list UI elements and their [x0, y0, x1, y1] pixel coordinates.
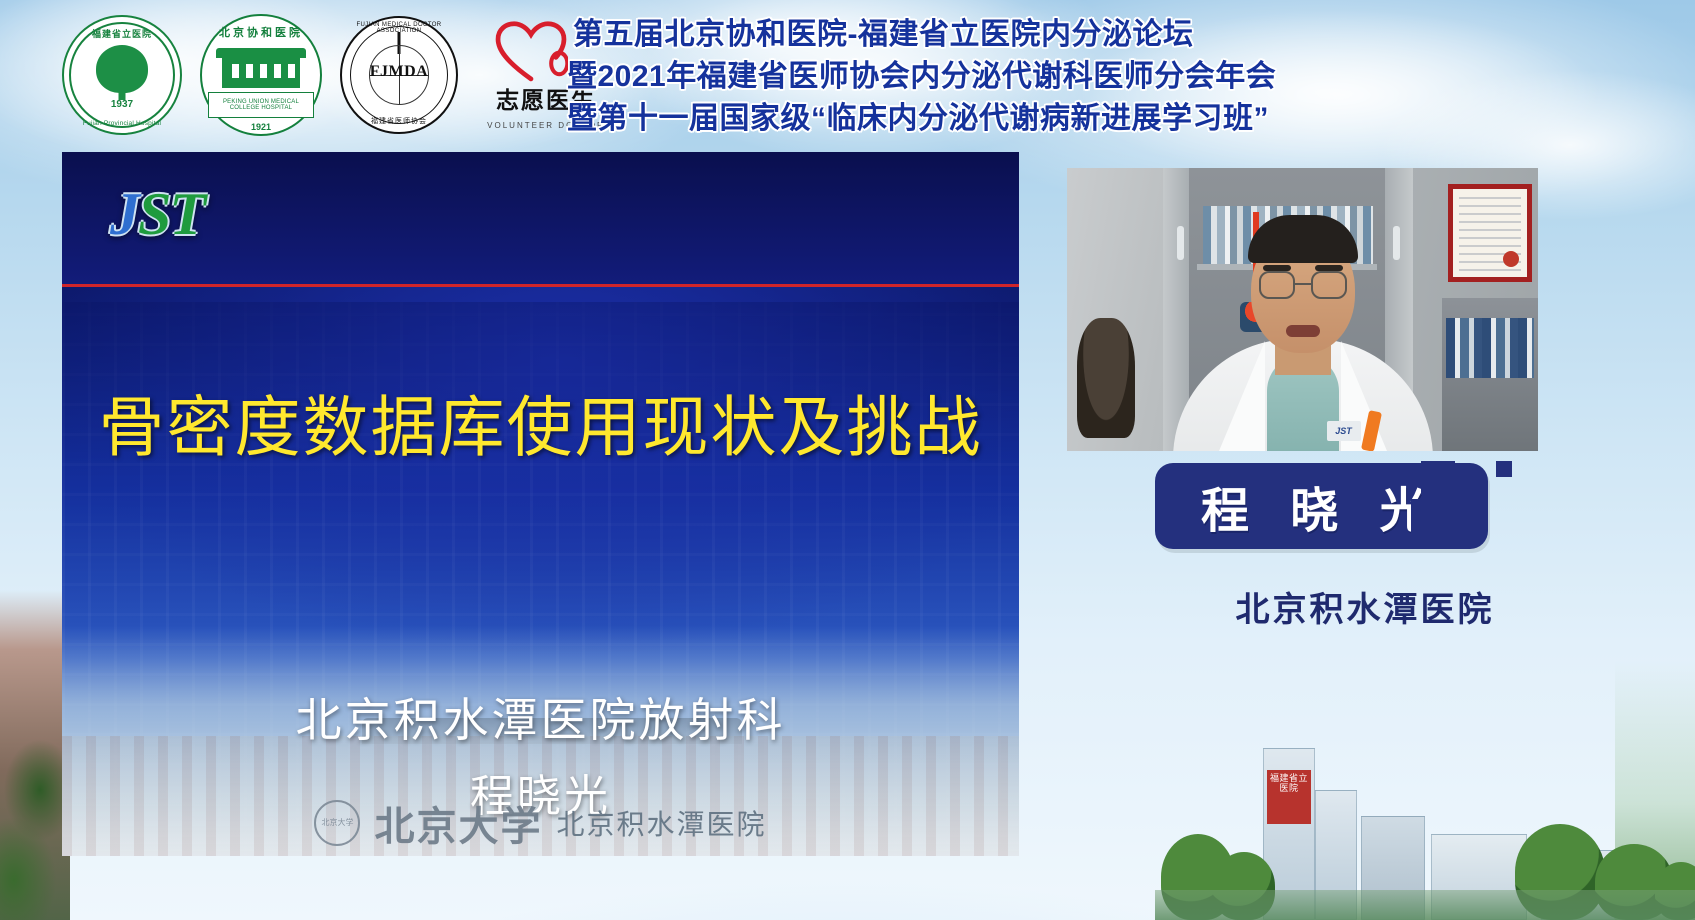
speaker-panel: JST 程 晓 光 北京积水潭医院 福建省立医院 [1035, 150, 1695, 920]
jst-logo-letter-j: J [110, 181, 138, 247]
video-right-books [1446, 318, 1534, 378]
badge-decoration-square [1455, 475, 1479, 499]
seal-english-line-2: COLLEGE HOSPITAL [230, 105, 292, 111]
lab-coat-logo-badge: JST [1327, 421, 1361, 441]
building-window-icon [232, 64, 239, 78]
watermark-hospital: 北京积水潭医院 [556, 803, 766, 843]
slide-subtitle-department: 北京积水潭医院放射科 [62, 684, 1019, 750]
slide-footer-watermark: 北京大学 北京大学 北京积水潭医院 [62, 794, 1019, 852]
jst-logo-letter-t: T [169, 181, 204, 247]
tree-trunk-icon [119, 85, 126, 100]
speaker-name-badge-group: 程 晓 光 [1035, 455, 1695, 585]
eyeglasses-lens-left [1259, 271, 1295, 299]
peking-union-medical-college-hospital-logo: 北京协和医院 PEKING UNION MEDICAL COLLEGE HOSP… [200, 14, 322, 136]
building-window-icon [274, 64, 281, 78]
heart-stethoscope-icon [494, 21, 568, 83]
seal-chinese-arc: 福建省医师协会 [340, 116, 458, 126]
speaker-mouth [1286, 325, 1320, 337]
left-foliage-decoration [0, 590, 70, 920]
broadcast-stage: 福建省立医院 1937 Fujian Provincial Hospital 北… [0, 0, 1695, 920]
framed-certificate [1448, 184, 1532, 282]
building-window-icon [246, 64, 253, 78]
city-scenery-decoration: 福建省立医院 [1155, 710, 1695, 920]
speaker-video-feed[interactable]: JST [1067, 168, 1538, 451]
jst-logo: JST [110, 184, 204, 244]
event-header: 福建省立医院 1937 Fujian Provincial Hospital 北… [0, 0, 1695, 150]
building-window-icon [288, 64, 295, 78]
eyeglasses-lens-right [1311, 271, 1347, 299]
eyeglasses-bridge [1295, 283, 1311, 285]
speaker-affiliation: 北京积水潭医院 [1035, 582, 1695, 631]
sponsor-logo-row: 福建省立医院 1937 Fujian Provincial Hospital 北… [62, 14, 616, 136]
certificate-seal-icon [1503, 251, 1519, 267]
badge-decoration-square [1421, 461, 1455, 495]
speaker-name: 程 晓 光 [1201, 471, 1442, 541]
slide-divider-rule [62, 284, 1019, 287]
fujian-provincial-hospital-logo: 福建省立医院 1937 Fujian Provincial Hospital [62, 15, 182, 135]
seal-acronym: FJMDA [340, 63, 458, 81]
building-window-icon [260, 64, 267, 78]
event-title-line-3: 暨第十一届国家级“临床内分泌代谢病新进展学习班” [565, 98, 1680, 140]
lab-coat-lapel-left [1219, 341, 1265, 451]
badge-decoration-square [1496, 461, 1512, 477]
seal-year: 1937 [62, 99, 182, 110]
seal-banner: PEKING UNION MEDICAL COLLEGE HOSPITAL [208, 92, 314, 118]
badge-decoration-square [1467, 521, 1485, 539]
cabinet-handle-icon [1177, 226, 1184, 260]
seal-english-name: Fujian Provincial Hospital [62, 120, 182, 127]
seal-year: 1921 [200, 122, 322, 132]
event-title-line-2: 暨2021年福建省医师协会内分泌代谢科医师分会年会 [565, 56, 1680, 98]
event-title-block: 第五届北京协和医院-福建省立医院内分泌论坛 暨2021年福建省医师协会内分泌代谢… [565, 14, 1680, 140]
watermark-university: 北京大学 [374, 794, 542, 852]
fujian-medical-doctor-association-logo: FUJIAN MEDICAL DOCTOR ASSOCIATION FJMDA … [340, 16, 458, 134]
ground-decoration [1155, 890, 1695, 920]
cabinet-handle-icon [1393, 226, 1400, 260]
building-roof-icon [216, 48, 306, 58]
presentation-slide[interactable]: JST 骨密度数据库使用现状及挑战 北京积水潭医院放射科 程晓光 北京大学 北京… [62, 152, 1019, 856]
slide-header-band [62, 152, 1019, 284]
seal-chinese-name: 北京协和医院 [200, 24, 322, 40]
peking-university-seal-icon: 北京大学 [314, 800, 360, 846]
video-sculpture-ornament [1077, 318, 1135, 438]
badge-decoration-square [1411, 499, 1457, 549]
event-title-line-1: 第五届北京协和医院-福建省立医院内分泌论坛 [565, 14, 1680, 56]
hospital-building-sign: 福建省立医院 [1267, 770, 1311, 824]
slide-title: 骨密度数据库使用现状及挑战 [62, 374, 1019, 470]
seal-chinese-name: 福建省立医院 [62, 27, 182, 40]
jst-logo-letter-s: S [138, 181, 169, 247]
